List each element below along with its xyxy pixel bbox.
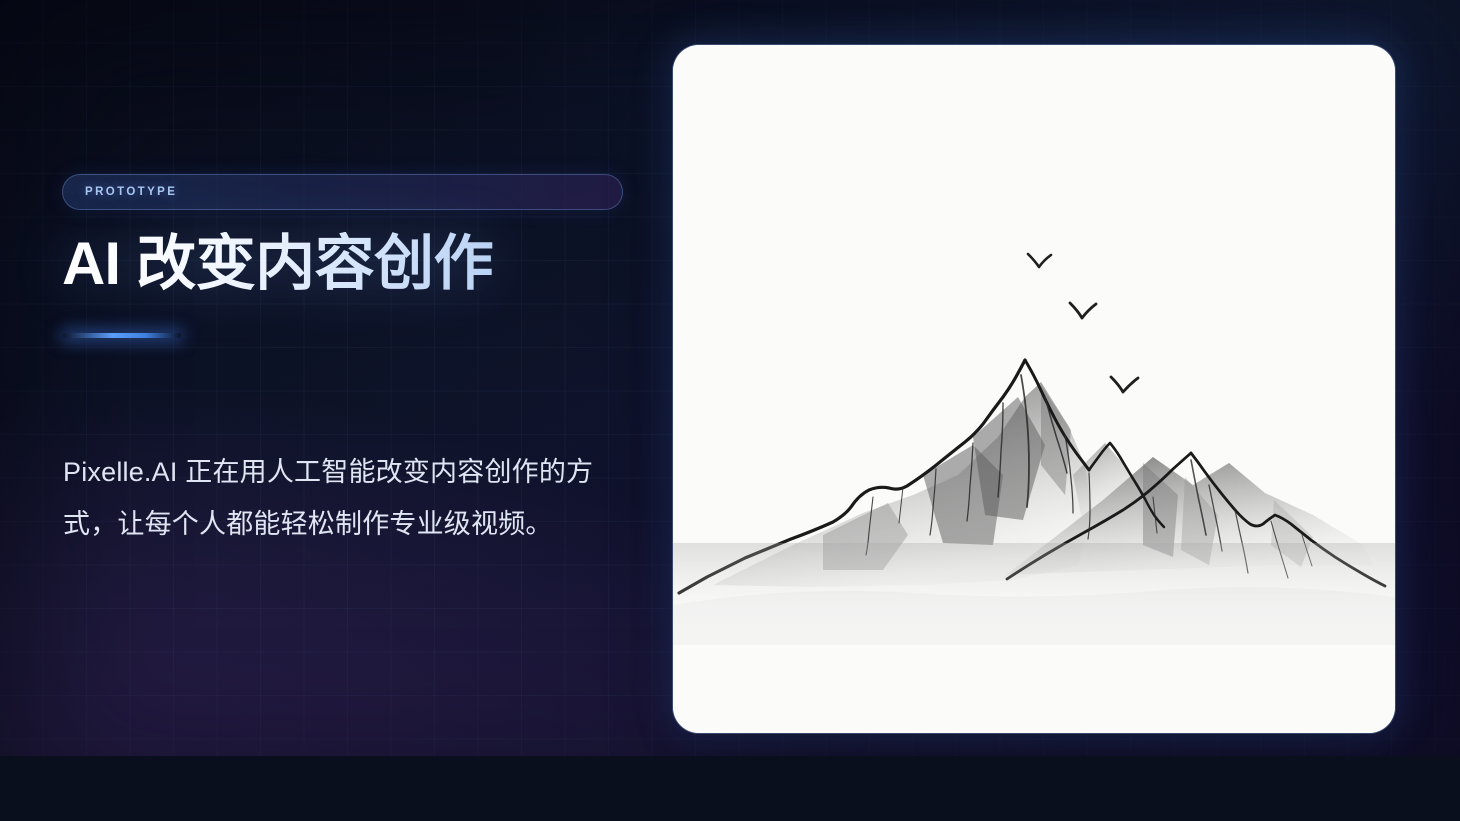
prototype-badge: PROTOTYPE <box>62 174 623 210</box>
mountain-sketch-illustration <box>673 45 1395 733</box>
page-title-main: 改变内容创作 <box>136 230 493 297</box>
illustration-card <box>673 45 1395 733</box>
page-title-spacer <box>120 230 136 297</box>
bottom-letterbox-bar <box>0 756 1460 821</box>
page-title: AI 改变内容创作 <box>62 232 493 296</box>
prototype-badge-label: PROTOTYPE <box>85 186 177 198</box>
page-title-prefix: AI <box>62 230 120 297</box>
text-column: PROTOTYPE AI 改变内容创作 Pixelle.AI 正在用人工智能改变… <box>62 0 662 756</box>
body-paragraph: Pixelle.AI 正在用人工智能改变内容创作的方式，让每个人都能轻松制作专业… <box>63 446 629 550</box>
title-accent-underline <box>63 333 181 338</box>
presentation-slide: PROTOTYPE AI 改变内容创作 Pixelle.AI 正在用人工智能改变… <box>0 0 1460 821</box>
